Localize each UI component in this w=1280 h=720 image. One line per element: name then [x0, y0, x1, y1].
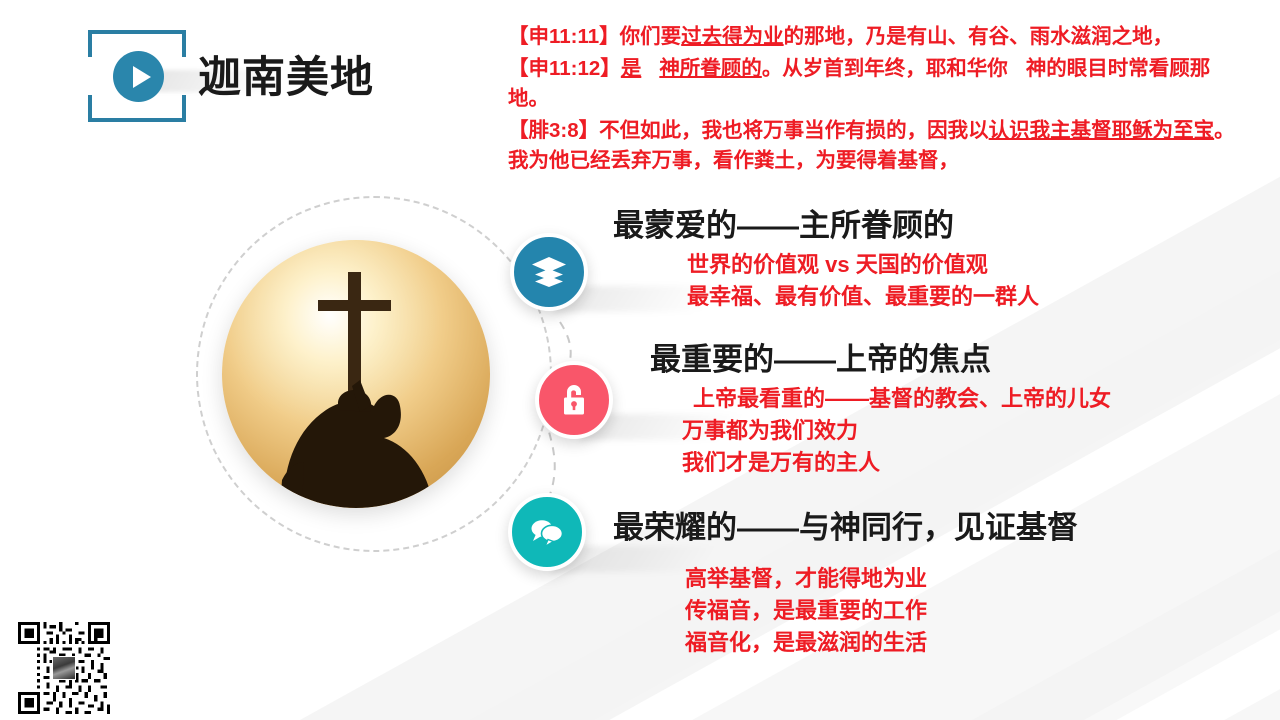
page-title: 迦南美地: [198, 43, 374, 105]
block-heading: 最重要的——上帝的焦点: [650, 341, 1111, 379]
scripture-verse: 【腓3:8】不但如此，我也将万事当作有损的，因我以认识我主基督耶稣为至宝。我为他…: [508, 116, 1248, 176]
scripture-verse: 【申11:12】是神所眷顾的。从岁首到年终，耶和华你神的眼目时常看顾那地。: [508, 54, 1248, 114]
verse-text-plain: 的那地，乃是有山、有谷、雨水滋润之地，: [784, 25, 1174, 48]
verse-text-underlined: 是神所眷顾的: [621, 57, 762, 80]
layers-icon: [532, 257, 566, 287]
bullet-icon-layers[interactable]: [510, 233, 588, 311]
scripture-verse: 【申11:11】你们要过去得为业的那地，乃是有山、有谷、雨水滋润之地，: [508, 22, 1248, 52]
block-subline: 高举基督，才能得地为业: [685, 563, 1078, 595]
unlock-icon: [559, 383, 589, 417]
qr-code[interactable]: [18, 622, 110, 714]
verse-reference: 【腓3:8】: [508, 119, 599, 142]
block-subline: 传福音，是最重要的工作: [685, 595, 1078, 627]
block-subline: 上帝最看重的——基督的教会、上帝的儿女: [693, 383, 1111, 415]
qr-center-logo: [52, 656, 76, 680]
block-subline: 福音化，是最滋润的生活: [685, 627, 1078, 659]
slide-root: 迦南美地 【申11:11】你们要过去得为业的那地，乃是有山、有谷、雨水滋润之地，…: [0, 0, 1280, 720]
block-heading: 最荣耀的——与神同行，见证基督: [613, 509, 1078, 547]
scripture-block: 【申11:11】你们要过去得为业的那地，乃是有山、有谷、雨水滋润之地， 【申11…: [508, 22, 1248, 178]
content-block-2: 最重要的——上帝的焦点 上帝最看重的——基督的教会、上帝的儿女 万事都为我们效力…: [650, 341, 1111, 479]
verse-text-plain: 。从岁首到年终，耶和华你: [762, 57, 1008, 80]
verse-reference: 【申11:12】: [508, 57, 621, 80]
verse-text-plain: 你们要: [620, 25, 682, 48]
verse-text-underlined: 认识我主基督耶稣为至宝: [989, 119, 1215, 142]
block-subline: 最幸福、最有价值、最重要的一群人: [687, 281, 1039, 313]
block-heading: 最蒙爱的——主所眷顾的: [613, 207, 1039, 245]
content-block-1: 最蒙爱的——主所眷顾的 世界的价值观 vs 天国的价值观 最幸福、最有价值、最重…: [613, 207, 1039, 313]
brand-logo: 迦南美地: [88, 30, 488, 130]
verse-text-underlined: 过去得为业: [681, 25, 784, 48]
play-button-icon: [113, 51, 164, 102]
bullet-icon-chat[interactable]: [508, 493, 586, 571]
chat-bubbles-icon: [530, 517, 564, 547]
sunset-cross-silhouette-image: [222, 240, 490, 508]
block-subline: 万事都为我们效力: [682, 415, 1111, 447]
content-block-3: 最荣耀的——与神同行，见证基督 高举基督，才能得地为业 传福音，是最重要的工作 …: [613, 509, 1078, 659]
block-subline: 世界的价值观 vs 天国的价值观: [687, 249, 1039, 281]
verse-text-plain: 不但如此，我也将万事当作有损的，因我以: [599, 119, 989, 142]
verse-reference: 【申11:11】: [508, 25, 620, 48]
block-subline: 我们才是万有的主人: [682, 447, 1111, 479]
bullet-icon-unlock[interactable]: [535, 361, 613, 439]
